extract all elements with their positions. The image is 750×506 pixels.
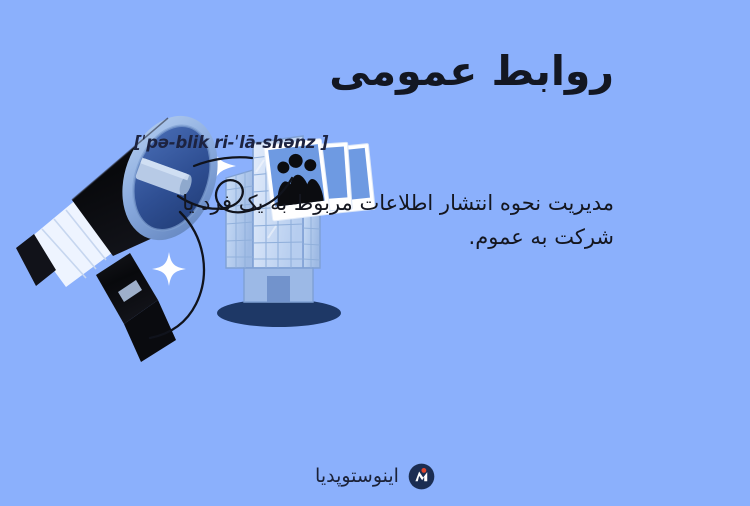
page-title: روابط عمومی: [134, 46, 614, 97]
definition-text-column: روابط عمومی [ˈpə-blik ri-ˈlā-shənz ] مدی…: [134, 46, 614, 254]
definition-card: روابط عمومی [ˈpə-blik ri-ˈlā-shənz ] مدی…: [0, 0, 750, 506]
definition-text: مدیریت نحوه انتشار اطلاعات مربوط به یک ف…: [134, 186, 614, 254]
office-building-base: [217, 299, 341, 327]
pronunciation-text: [ˈpə-blik ri-ˈlā-shənz ]: [134, 133, 614, 152]
investopedia-logo-icon: [408, 463, 435, 490]
watermark-text: اینوستوپدیا: [315, 467, 399, 486]
watermark: اینوستوپدیا: [0, 463, 750, 490]
sparkle-icon: [152, 252, 186, 286]
